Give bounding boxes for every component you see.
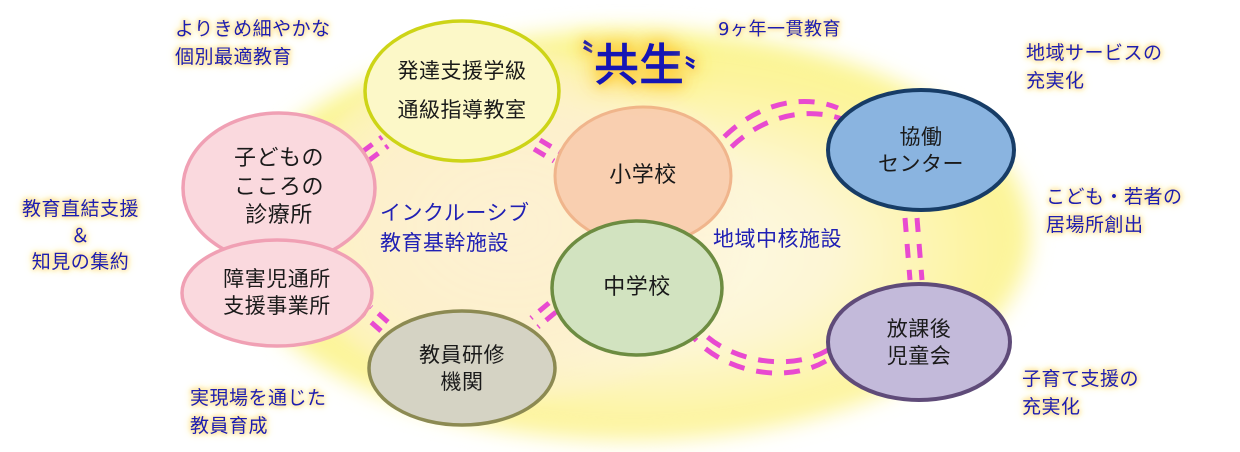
annotation-teacher-development: 実現場を通じた 教員育成 bbox=[190, 385, 327, 440]
label-regional-core-facility: 地域中核施設 bbox=[713, 224, 842, 254]
diagram-title: 〝共生〟 bbox=[552, 24, 727, 90]
annotation-individually-optimized-education: よりきめ細やかな 個別最適教育 bbox=[175, 16, 331, 71]
annotation-community-service-enhancement: 地域サービスの 充実化 bbox=[1026, 40, 1163, 95]
node-collaboration-center[interactable] bbox=[828, 90, 1014, 210]
annotation-youth-place-creation: こども・若者の 居場所創出 bbox=[1046, 184, 1183, 239]
annotation-direct-education-support: 教育直結支援 ＆ 知見の集約 bbox=[22, 196, 139, 276]
title-text: 共生 bbox=[595, 40, 685, 91]
diagram-canvas: 〝共生〟 発達支援学級 通級指導教室 子どもの こころの 診療所 障害児通所 支… bbox=[0, 0, 1240, 452]
title-close-quote: 〟 bbox=[685, 39, 716, 74]
title-open-quote: 〝 bbox=[564, 39, 595, 74]
node-after-school-childrens-club[interactable] bbox=[828, 284, 1010, 400]
node-disabled-children-day-service-office[interactable] bbox=[182, 240, 372, 346]
annotation-nine-year-integrated-education: 9ヶ年一貫教育 bbox=[718, 17, 841, 43]
node-junior-high-school[interactable] bbox=[552, 221, 722, 355]
label-inclusive-education-core-facility: インクルーシブ 教育基幹施設 bbox=[380, 198, 529, 259]
node-teacher-training-institution[interactable] bbox=[369, 311, 555, 425]
annotation-childrearing-support-enhancement: 子育て支援の 充実化 bbox=[1022, 366, 1139, 421]
node-developmental-support-class[interactable] bbox=[365, 21, 559, 161]
